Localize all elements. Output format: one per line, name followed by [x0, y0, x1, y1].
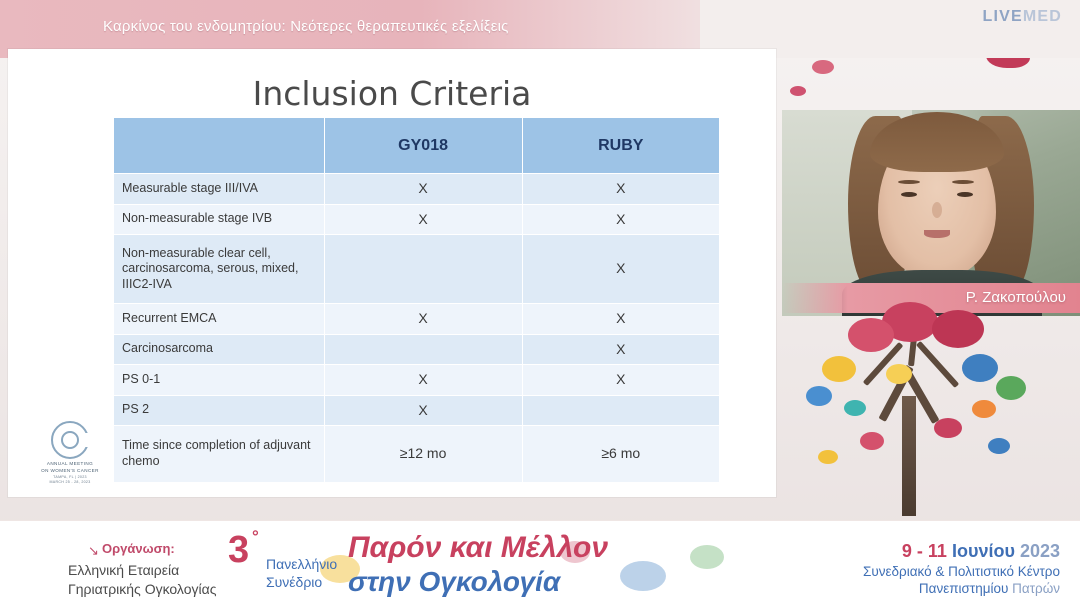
- row-gy018-value: [324, 334, 522, 365]
- logo-line-4: MARCH 25 - 28, 2023: [30, 480, 110, 485]
- row-gy018-value: X: [324, 304, 522, 335]
- row-gy018-value: X: [324, 174, 522, 205]
- tree-branch: [916, 341, 959, 388]
- table-head: GY018 RUBY: [114, 118, 720, 174]
- logo-ring-icon: [51, 421, 89, 459]
- eye-left: [901, 192, 917, 197]
- org-label: Οργάνωση:: [102, 541, 175, 556]
- logo-line-1: ANNUAL MEETING: [30, 461, 110, 468]
- tree-foliage-blue-2: [806, 386, 832, 406]
- row-ruby-value: X: [522, 174, 719, 205]
- org-line-2: Γηριατρικής Ογκολογίας: [68, 581, 216, 597]
- tree-foliage-red-2: [848, 318, 894, 352]
- eye-right: [957, 192, 973, 197]
- row-gy018-value: X: [324, 204, 522, 235]
- row-ruby-value: X: [522, 365, 719, 396]
- row-gy018-value: X: [324, 395, 522, 426]
- venue-line-2-b: Πατρών: [1012, 581, 1060, 596]
- mouth: [924, 230, 950, 238]
- tree-foliage-red-4: [934, 418, 962, 438]
- venue-line-2: Πανεπιστημίου Πατρών: [919, 581, 1060, 596]
- livemed-med-text: MED: [1023, 8, 1062, 25]
- tree-foliage-blue-3: [988, 438, 1010, 454]
- presentation-title: Καρκίνος του ενδομητρίου: Νεότερες θεραπ…: [103, 18, 509, 35]
- presentation-stage: Καρκίνος του ενδομητρίου: Νεότερες θεραπ…: [0, 0, 1080, 608]
- tree-foliage-orange: [972, 400, 996, 418]
- eyebrow-left: [898, 180, 920, 184]
- org-arrow-icon: ↘: [88, 543, 99, 559]
- row-gy018-value: ≥12 mo: [324, 426, 522, 483]
- tree-foliage-teal: [844, 400, 866, 416]
- event-title-line-1: Παρόν και Μέλλον: [348, 531, 608, 565]
- table-header-gy018: GY018: [324, 118, 522, 174]
- livemed-live-text: LIVE: [982, 8, 1022, 25]
- row-gy018-value: [324, 235, 522, 304]
- paint-splatter-red-7: [790, 86, 806, 96]
- event-dates-year: 2023: [1020, 541, 1060, 561]
- table-header-ruby: RUBY: [522, 118, 719, 174]
- row-label: Non-measurable clear cell, carcinosarcom…: [114, 235, 325, 304]
- tree-foliage-yellow-2: [886, 364, 912, 384]
- org-line-1: Ελληνική Εταιρεία: [68, 562, 179, 578]
- row-ruby-value: X: [522, 204, 719, 235]
- tree-foliage-blue: [962, 354, 998, 382]
- conference-word-2: Συνέδριο: [266, 574, 322, 590]
- venue-line-1: Συνεδριακό & Πολιτιστικό Κέντρο: [863, 564, 1060, 579]
- event-dates-days: 9 - 11: [902, 541, 947, 561]
- conference-number: 3: [228, 529, 249, 572]
- tree-graphic: [782, 300, 1080, 520]
- venue-line-2-a: Πανεπιστημίου: [919, 581, 1008, 596]
- table-row: Time since completion of adjuvant chemo …: [114, 426, 720, 483]
- conference-degree-symbol: °: [252, 527, 259, 547]
- table-header-row: GY018 RUBY: [114, 118, 720, 174]
- nose: [932, 202, 942, 218]
- table-body: Measurable stage III/IVA X X Non-measura…: [114, 174, 720, 483]
- row-label: Measurable stage III/IVA: [114, 174, 325, 205]
- table-row: Non-measurable stage IVB X X: [114, 204, 720, 235]
- table-header-blank: [114, 118, 325, 174]
- tree-trunk: [902, 396, 916, 516]
- conference-word-1: Πανελλήνιο: [266, 556, 337, 572]
- table-row: Carcinosarcoma X: [114, 334, 720, 365]
- paint-splatter-red-5: [812, 60, 834, 74]
- event-dates: 9 - 11 Ιουνίου 2023: [902, 541, 1060, 562]
- eyebrow-right: [952, 180, 974, 184]
- row-gy018-value: X: [324, 365, 522, 396]
- tree-foliage-yellow: [822, 356, 856, 382]
- row-label: Time since completion of adjuvant chemo: [114, 426, 325, 483]
- slide-title: Inclusion Criteria: [8, 74, 776, 113]
- event-dates-month: Ιουνίου: [952, 541, 1015, 561]
- tree-foliage-yellow-3: [818, 450, 838, 464]
- livemed-logo: LIVEMED: [982, 8, 1062, 26]
- table-row: PS 0-1 X X: [114, 365, 720, 396]
- row-label: Non-measurable stage IVB: [114, 204, 325, 235]
- inclusion-criteria-table: GY018 RUBY Measurable stage III/IVA X X …: [113, 117, 720, 483]
- row-label: Carcinosarcoma: [114, 334, 325, 365]
- table-row: Non-measurable clear cell, carcinosarcom…: [114, 235, 720, 304]
- tree-foliage-red-3: [932, 310, 984, 348]
- row-ruby-value: [522, 395, 719, 426]
- event-title-line-2: στην Ογκολογία: [348, 566, 560, 598]
- row-ruby-value: X: [522, 334, 719, 365]
- tree-foliage-green: [996, 376, 1026, 400]
- row-ruby-value: X: [522, 304, 719, 335]
- table-row: Measurable stage III/IVA X X: [114, 174, 720, 205]
- row-label: Recurrent EMCA: [114, 304, 325, 335]
- table-row: Recurrent EMCA X X: [114, 304, 720, 335]
- table-row: PS 2 X: [114, 395, 720, 426]
- logo-line-2: ON WOMEN'S CANCER: [30, 468, 110, 475]
- row-ruby-value: ≥6 mo: [522, 426, 719, 483]
- row-label: PS 2: [114, 395, 325, 426]
- row-label: PS 0-1: [114, 365, 325, 396]
- row-ruby-value: X: [522, 235, 719, 304]
- footer-splatter-blue: [620, 561, 666, 591]
- slide-canvas: Inclusion Criteria GY018 RUBY Measurable…: [8, 49, 776, 497]
- conference-logo: ANNUAL MEETING ON WOMEN'S CANCER TAMPA, …: [30, 421, 110, 483]
- footer-splatter-green: [690, 545, 724, 569]
- tree-foliage-red-5: [860, 432, 884, 450]
